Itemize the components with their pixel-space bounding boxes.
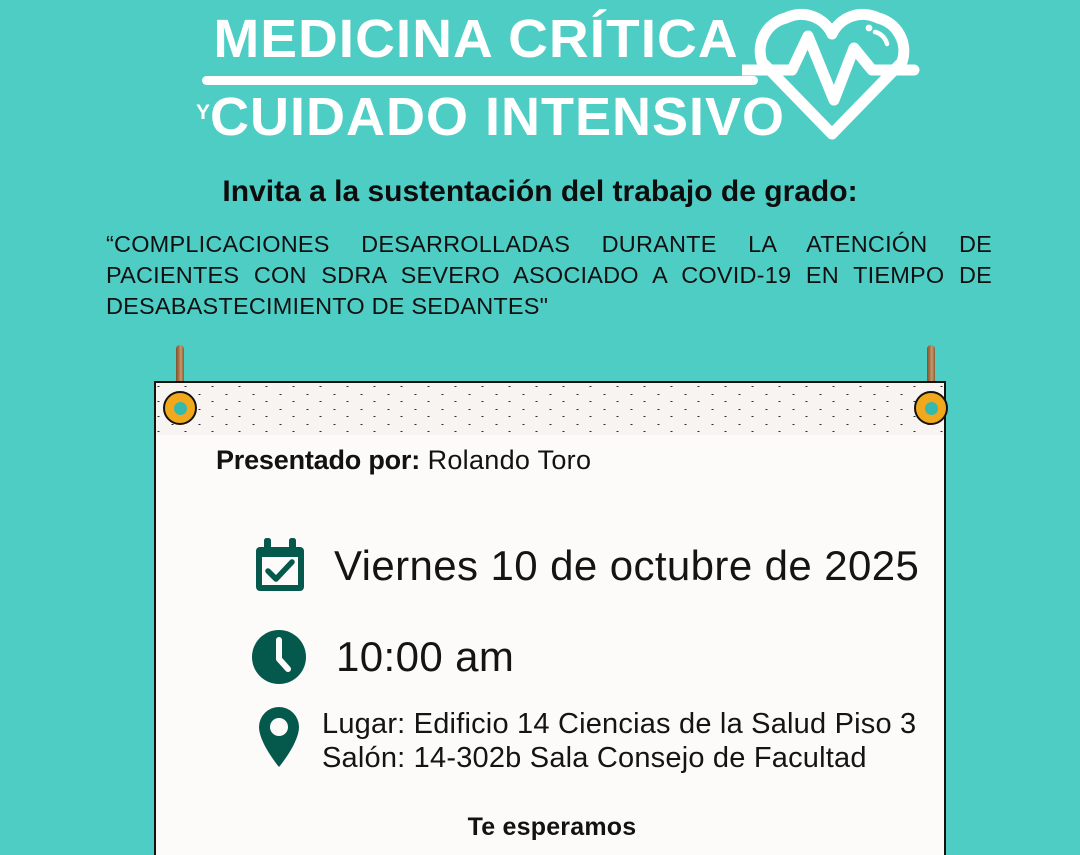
logo-line-cuidado-intensivo-wrap: YCUIDADO INTENSIVO	[196, 84, 766, 160]
thesis-title: “COMPLICACIONES DESARROLLADAS DURANTE LA…	[106, 229, 992, 322]
presenter-row: Presentado por: Rolando Toro	[216, 443, 591, 477]
event-place-line2: Salón: 14-302b Sala Consejo de Facultad	[322, 742, 867, 774]
card-dotted-strip	[156, 383, 944, 435]
event-date-text: Viernes 10 de octubre de 2025	[334, 538, 919, 594]
presenter-name: Rolando Toro	[428, 445, 592, 475]
logo-line-cuidado-intensivo: CUIDADO INTENSIVO	[210, 87, 785, 147]
event-date-row: Viernes 10 de octubre de 2025	[252, 538, 919, 594]
logo-wordmark: MEDICINA CRÍTICA YCUIDADO INTENSIVO	[196, 8, 756, 140]
closing-message: Te esperamos	[156, 813, 948, 842]
logo-line-medicina-critica: MEDICINA CRÍTICA	[190, 10, 761, 68]
brand-logo-block: MEDICINA CRÍTICA YCUIDADO INTENSIVO	[0, 0, 1080, 148]
event-place-text: Lugar: Edificio 14 Ciencias de la Salud …	[322, 705, 916, 775]
event-time-text: 10:00 am	[336, 628, 514, 686]
calendar-check-icon	[252, 538, 308, 594]
event-details-card: Presentado por: Rolando Toro Viernes 10 …	[154, 381, 946, 855]
event-place-line1: Lugar: Edificio 14 Ciencias de la Salud …	[322, 708, 916, 740]
event-place-row: Lugar: Edificio 14 Ciencias de la Salud …	[256, 705, 916, 775]
presenter-label: Presentado por:	[216, 445, 420, 475]
logo-connector-y: Y	[196, 101, 210, 124]
map-pin-icon	[256, 705, 302, 769]
grommet-left	[163, 391, 197, 425]
grommet-right	[914, 391, 948, 425]
event-time-row: 10:00 am	[250, 628, 514, 686]
heart-ecg-icon	[742, 4, 922, 140]
clock-icon	[250, 628, 308, 686]
invitation-headline: Invita a la sustentación del trabajo de …	[0, 175, 1080, 209]
